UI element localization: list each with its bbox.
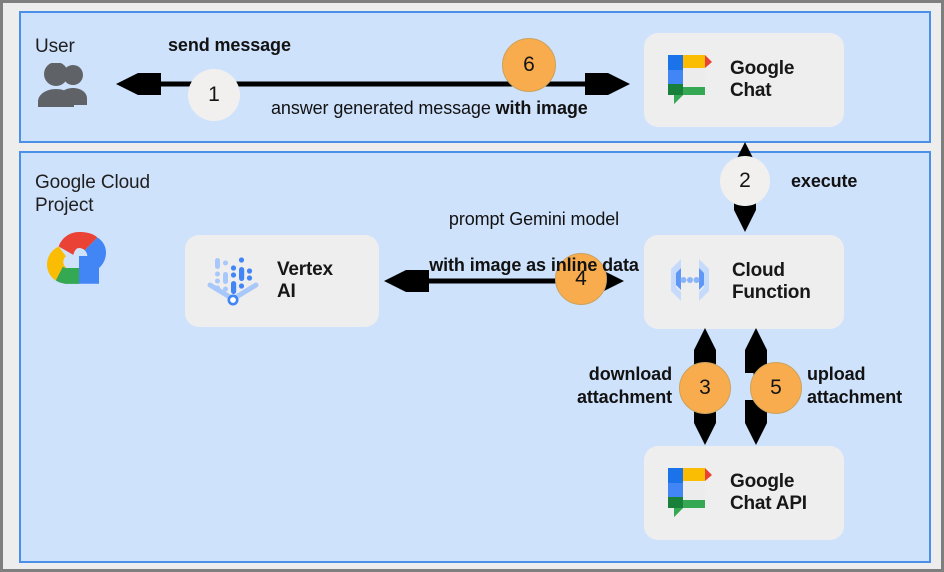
node-cloud-function[interactable]: Cloud Function	[644, 235, 844, 329]
caption-answer-plain: answer generated message	[271, 98, 496, 118]
architecture-diagram: User	[0, 0, 944, 572]
users-icon	[35, 63, 97, 112]
caption-download-attachment: download attachment	[532, 363, 672, 409]
node-google-chat-api-label: Google Chat API	[730, 471, 807, 516]
node-vertex-ai-label: Vertex AI	[277, 259, 333, 304]
cloud-function-icon	[662, 252, 718, 313]
caption-upload-attachment: upload attachment	[807, 363, 902, 409]
step-badge-5: 5	[750, 362, 802, 414]
caption-send-message: send message	[168, 34, 291, 57]
caption-prompt-bold: with image as inline data	[429, 255, 639, 275]
user-panel-title: User	[35, 35, 75, 58]
step-badge-2: 2	[720, 156, 770, 206]
user-chat-connector	[93, 73, 653, 100]
node-vertex-ai[interactable]: Vertex AI	[185, 235, 379, 327]
google-chat-icon	[662, 51, 716, 110]
node-google-chat-label: Google Chat	[730, 58, 794, 103]
step-badge-6: 6	[502, 38, 556, 92]
caption-answer-bold: with image	[496, 98, 588, 118]
google-cloud-project-panel: Google Cloud Project	[19, 151, 931, 563]
node-google-chat-api[interactable]: Google Chat API	[644, 446, 844, 540]
gcp-panel-title: Google Cloud Project	[35, 171, 150, 217]
google-cloud-logo-icon	[43, 226, 115, 293]
caption-prompt-gemini: prompt Gemini model with image as inline…	[419, 185, 649, 277]
caption-execute: execute	[791, 170, 857, 193]
step-badge-1: 1	[188, 69, 240, 121]
step-badge-3: 3	[679, 362, 731, 414]
caption-prompt-plain: prompt Gemini model	[449, 209, 619, 229]
google-chat-icon	[662, 464, 716, 523]
node-cloud-function-label: Cloud Function	[732, 260, 811, 305]
node-google-chat[interactable]: Google Chat	[644, 33, 844, 127]
caption-answer-generated-message: answer generated message with image	[271, 97, 588, 120]
vertex-ai-icon	[203, 250, 263, 313]
user-panel: User	[19, 11, 931, 143]
